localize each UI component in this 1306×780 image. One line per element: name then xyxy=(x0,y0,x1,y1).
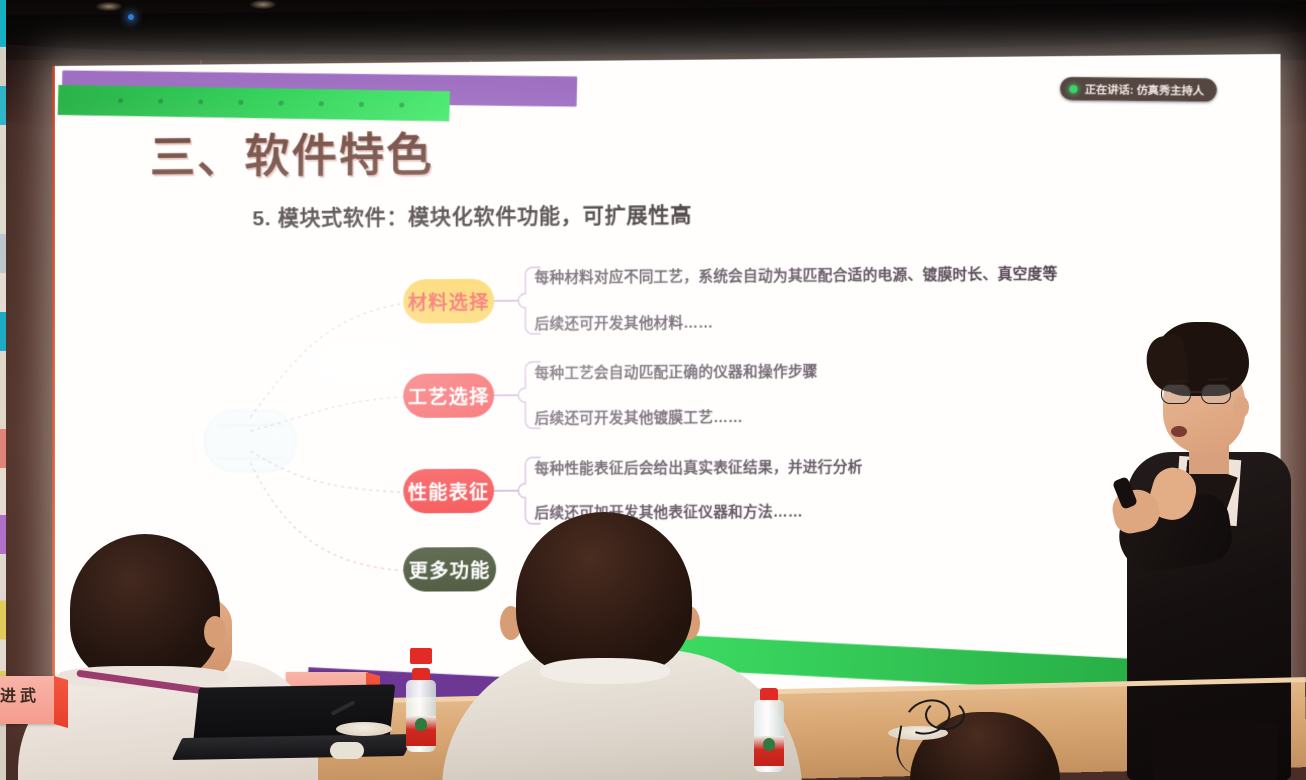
glasses-icon xyxy=(1161,384,1253,404)
audience-left-head xyxy=(70,534,220,684)
mindmap-detail-text: 后续还可开发其他镀膜工艺…… xyxy=(535,406,744,428)
mindmap-detail-text: 每种性能表征后会给出真实表征结果，并进行分析 xyxy=(535,456,863,479)
bottle-label xyxy=(754,736,784,766)
bottle-label xyxy=(406,716,436,746)
ceiling-lamp-icon xyxy=(96,2,122,11)
audience-center-collar xyxy=(540,658,670,684)
presenter-mouth xyxy=(1171,426,1187,437)
name-card-text: 进武 xyxy=(0,682,40,706)
left-edge-color-strip xyxy=(0,0,6,780)
mindmap-detail-text: 每种材料对应不同工艺，系统会自动为其匹配合适的电源、镀膜时长、真空度等 xyxy=(535,262,1058,287)
mindmap-hub xyxy=(204,410,296,473)
ceiling-light-icon xyxy=(128,14,134,20)
laptop-keyboard[interactable] xyxy=(172,734,414,760)
cable-coil xyxy=(925,700,965,730)
microphone-active-icon xyxy=(1069,84,1077,92)
red-marker-block xyxy=(410,648,432,664)
ceiling-beam xyxy=(0,1,1306,62)
audience-left-ear xyxy=(204,616,226,648)
speaking-status-badge: 正在讲话: 仿真秀主持人 xyxy=(1060,77,1217,102)
mindmap-detail-text: 每种工艺会自动匹配正确的仪器和操作步骤 xyxy=(535,360,818,383)
audience-center-head xyxy=(516,512,692,676)
name-card: 进武 xyxy=(0,676,56,724)
speaking-status-text: 正在讲话: 仿真秀主持人 xyxy=(1085,81,1205,99)
computer-mouse[interactable] xyxy=(330,742,364,759)
mindmap-node-performance[interactable]: 性能表征 xyxy=(403,469,494,514)
mindmap-node-process[interactable]: 工艺选择 xyxy=(403,373,494,418)
ceiling-lamp-icon xyxy=(250,0,276,9)
presenter-trousers xyxy=(1153,722,1277,780)
room-ceiling xyxy=(0,0,1306,60)
mindmap-detail-text: 后续还可开发其他材料…… xyxy=(535,311,714,333)
saucer xyxy=(336,722,392,736)
mindmap-node-material[interactable]: 材料选择 xyxy=(403,279,494,324)
